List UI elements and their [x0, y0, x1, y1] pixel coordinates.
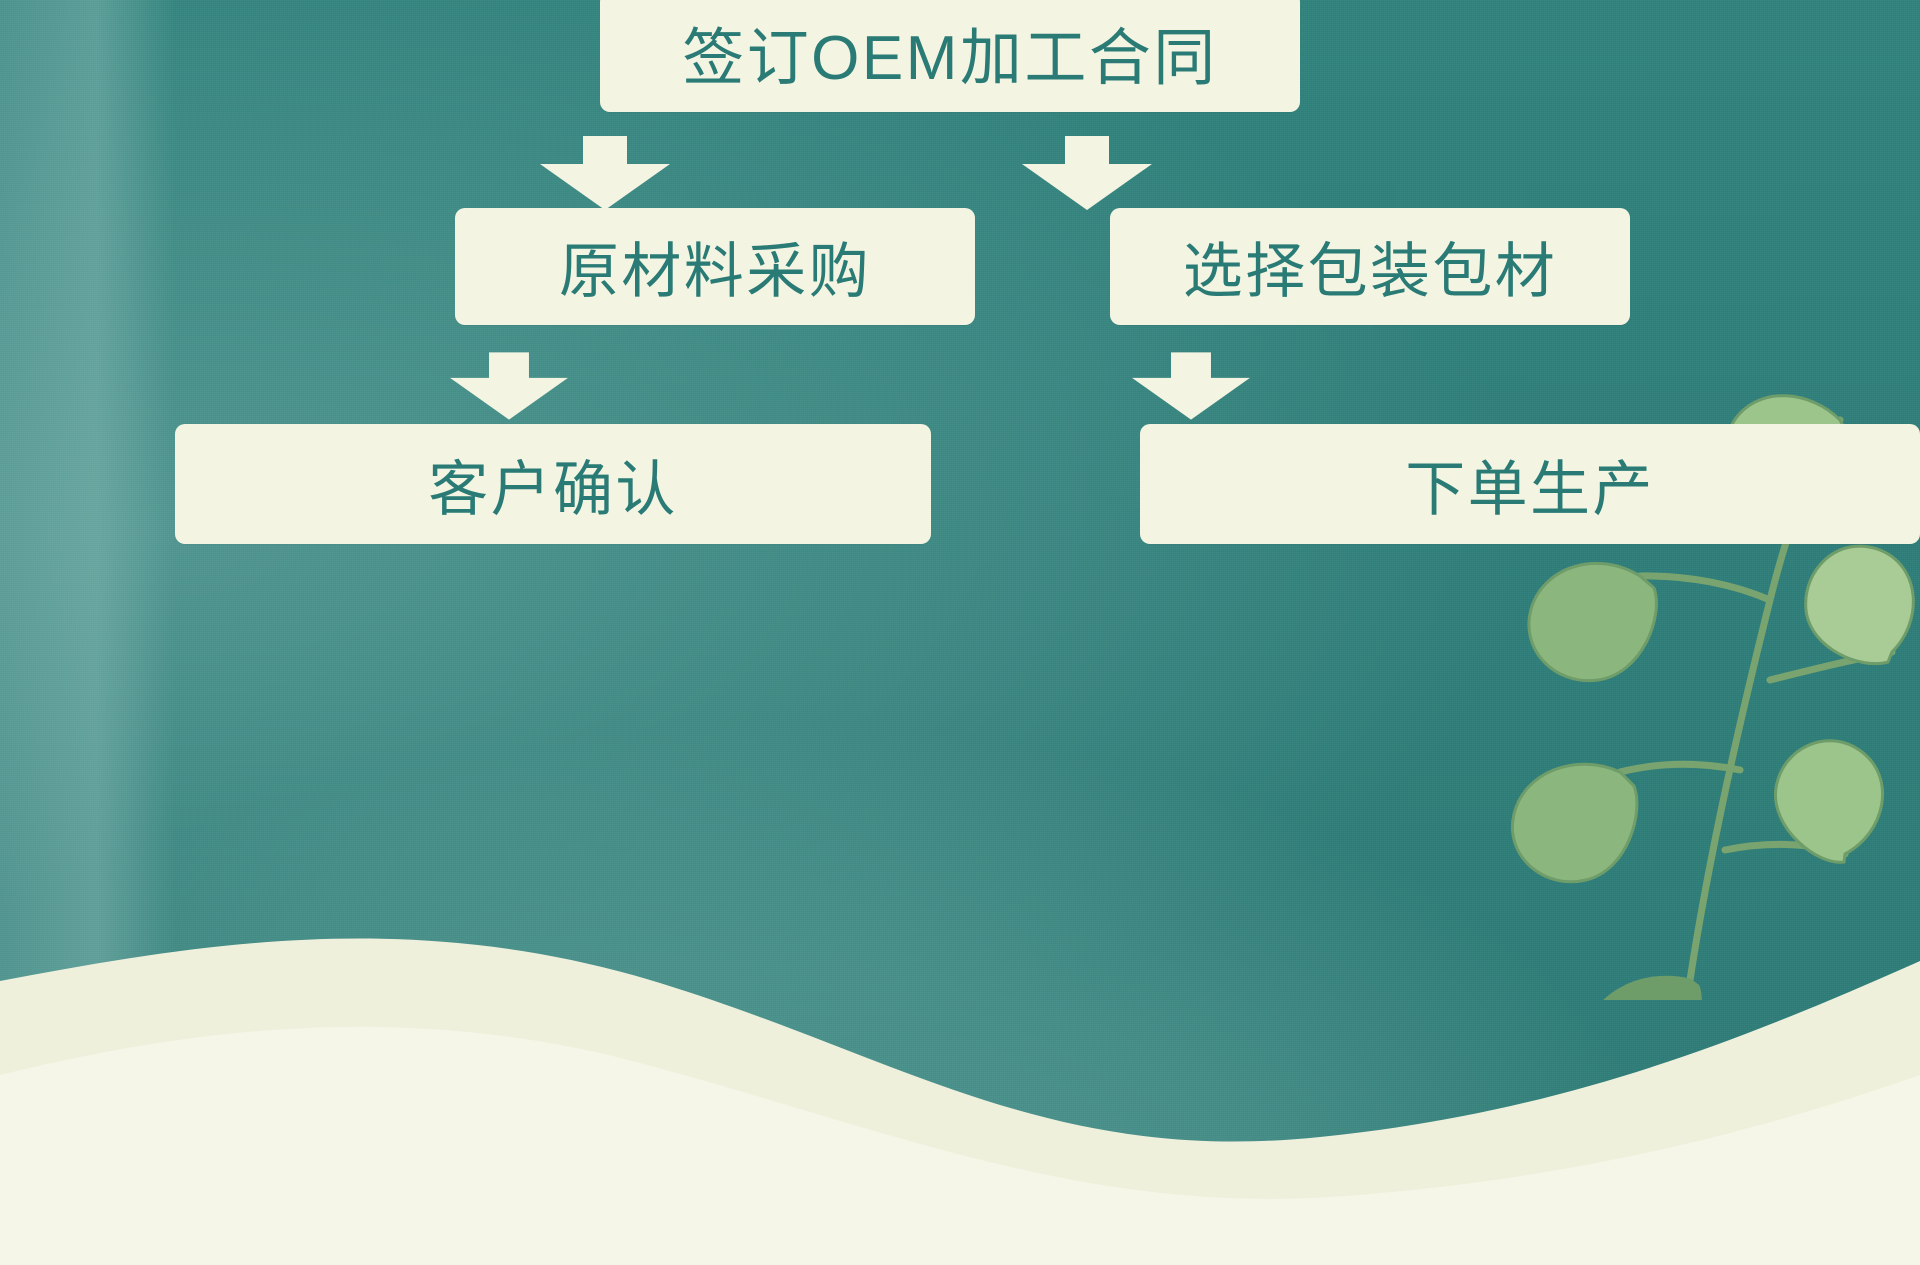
down-arrow-icon — [1132, 352, 1250, 420]
flow-node-raw-material-purchase-label: 原材料采购 — [559, 223, 871, 310]
flow-node-customer-confirmation[interactable]: 客户确认 — [175, 424, 931, 544]
flow-node-place-order-production-label: 下单生产 — [1405, 441, 1655, 528]
flow-node-select-packaging[interactable]: 选择包装包材 — [1110, 208, 1630, 325]
flow-node-raw-material-purchase[interactable]: 原材料采购 — [455, 208, 975, 325]
flow-node-customer-confirmation-label: 客户确认 — [428, 441, 678, 528]
flow-node-place-order-production[interactable]: 下单生产 — [1140, 424, 1920, 544]
down-arrow-icon — [540, 136, 670, 210]
flow-node-contract-label: 签订OEM加工合同 — [682, 7, 1218, 97]
poster-canvas: 签订OEM加工合同 原材料采购 选择包装包材 — [0, 0, 1920, 1265]
flow-node-select-packaging-label: 选择包装包材 — [1183, 223, 1557, 310]
down-arrow-icon — [450, 352, 568, 420]
flow-node-contract[interactable]: 签订OEM加工合同 — [600, 0, 1300, 112]
oem-process-flowchart: 签订OEM加工合同 原材料采购 选择包装包材 — [0, 0, 1920, 1265]
down-arrow-icon — [1022, 136, 1152, 210]
